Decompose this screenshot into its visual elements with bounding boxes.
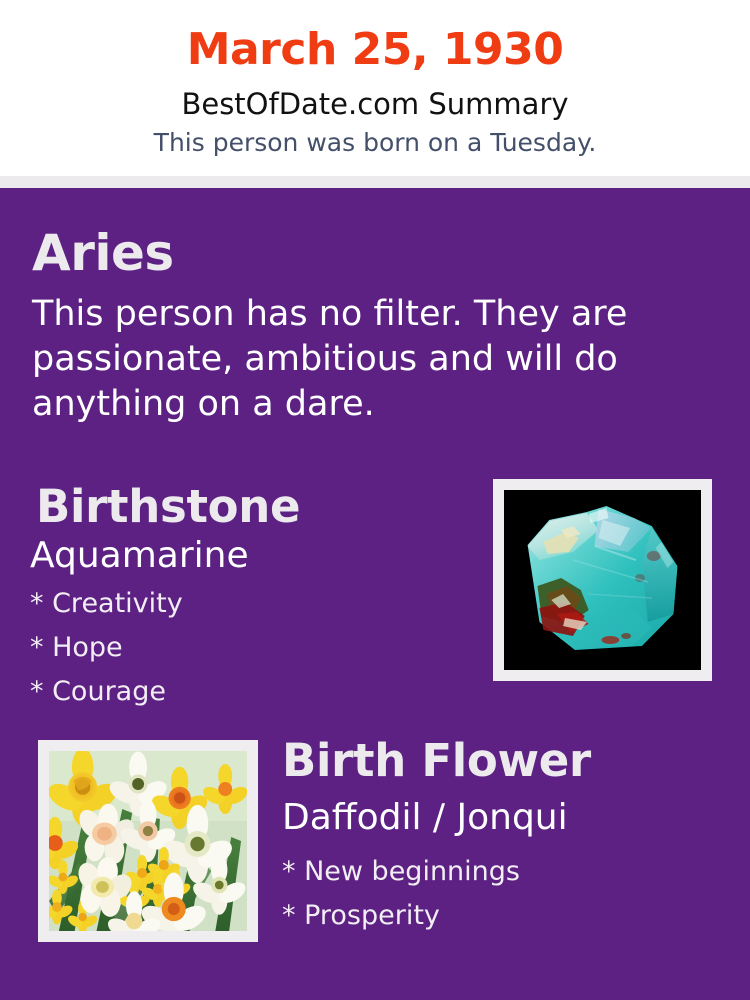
list-item: * Courage	[30, 670, 470, 714]
site-summary-label: BestOfDate.com Summary	[0, 87, 750, 121]
header-divider	[0, 176, 750, 188]
page-title-date: March 25, 1930	[0, 24, 750, 76]
birth-flower-name: Daffodil / Jonqui	[282, 796, 568, 840]
birth-flower-image-frame	[38, 740, 258, 942]
birth-weekday-note: This person was born on a Tuesday.	[0, 128, 750, 158]
zodiac-sign-heading: Aries	[32, 224, 174, 282]
birthstone-image	[504, 490, 701, 670]
daffodil-flowers-icon	[49, 751, 247, 931]
birth-flower-image	[49, 751, 247, 931]
list-item: * Hope	[30, 626, 470, 670]
zodiac-description: This person has no filter. They are pass…	[32, 292, 652, 427]
list-item: * Creativity	[30, 582, 470, 626]
list-item: * Prosperity	[282, 894, 722, 938]
list-item: * New beginnings	[282, 850, 722, 894]
birthstone-name: Aquamarine	[30, 534, 249, 578]
page-header: March 25, 1930 BestOfDate.com Summary Th…	[0, 0, 750, 176]
aquamarine-crystal-icon	[504, 490, 701, 670]
birthstone-heading: Birthstone	[36, 481, 300, 533]
birthstone-traits-list: * Creativity * Hope * Courage	[30, 582, 470, 714]
birthstone-image-frame	[493, 479, 712, 681]
birth-flower-heading: Birth Flower	[282, 735, 591, 787]
birth-flower-traits-list: * New beginnings * Prosperity	[282, 850, 722, 938]
